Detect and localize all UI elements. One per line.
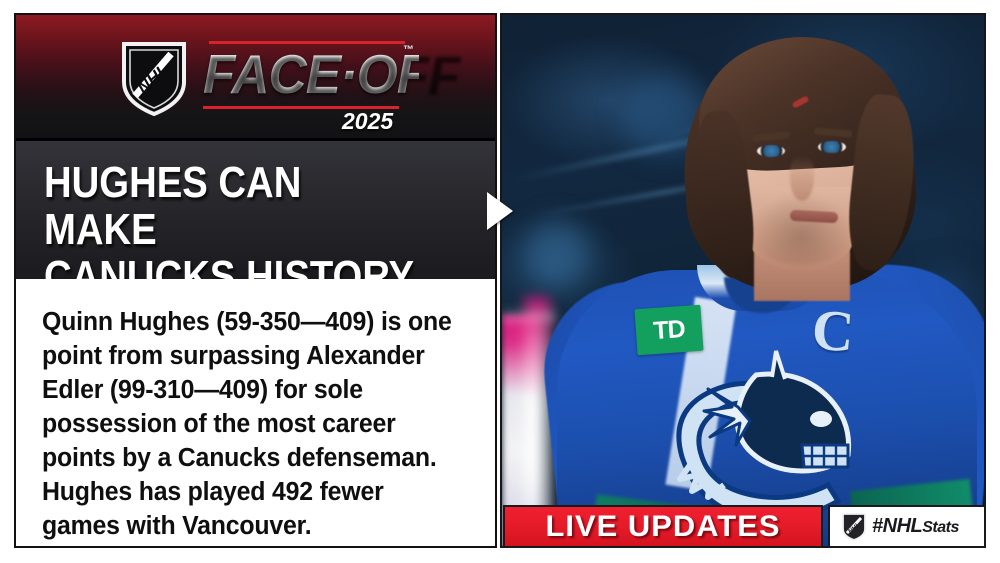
player-eye bbox=[818, 141, 846, 153]
year-label: 2025 bbox=[342, 108, 393, 135]
body-copy: Quinn Hughes (59-350—409) is one point f… bbox=[42, 305, 454, 543]
body-area: Quinn Hughes (59-350—409) is one point f… bbox=[16, 279, 495, 543]
rink-board-top bbox=[502, 311, 556, 323]
info-card: NHL FACE·OFF ™ 2025 HUGHES CAN MAKE CANU… bbox=[14, 13, 497, 548]
player-stubble bbox=[748, 193, 854, 265]
player-photo: TD C bbox=[500, 13, 986, 548]
nhl-stats-hash: #NHL bbox=[872, 515, 922, 537]
player-eye bbox=[757, 145, 785, 157]
brand-header: NHL FACE·OFF ™ 2025 bbox=[16, 15, 495, 141]
nhl-stats-label: #NHLStats bbox=[872, 515, 959, 538]
headline-band: HUGHES CAN MAKE CANUCKS HISTORY bbox=[16, 141, 495, 279]
nhl-stats-word: Stats bbox=[922, 519, 959, 536]
nhl-stats-tag[interactable]: NHL #NHLStats bbox=[828, 505, 986, 548]
nhl-shield-icon: NHL bbox=[118, 38, 190, 118]
bokeh-light bbox=[524, 221, 590, 287]
live-updates-banner[interactable]: LIVE UPDATES bbox=[503, 505, 823, 548]
nhl-shield-icon-small: NHL bbox=[841, 512, 867, 542]
player-nose bbox=[790, 155, 814, 201]
trademark-icon: ™ bbox=[403, 44, 414, 56]
canucks-orca-crest-icon bbox=[652, 345, 867, 525]
nhl-faceoff-graphic: NHL FACE·OFF ™ 2025 HUGHES CAN MAKE CANU… bbox=[0, 0, 1000, 563]
play-arrow-icon bbox=[487, 192, 513, 230]
faceoff-wordmark: FACE·OFF ™ 2025 bbox=[203, 34, 428, 136]
wordmark-text: FACE·OFF bbox=[203, 43, 419, 105]
live-updates-label: LIVE UPDATES bbox=[500, 507, 825, 546]
